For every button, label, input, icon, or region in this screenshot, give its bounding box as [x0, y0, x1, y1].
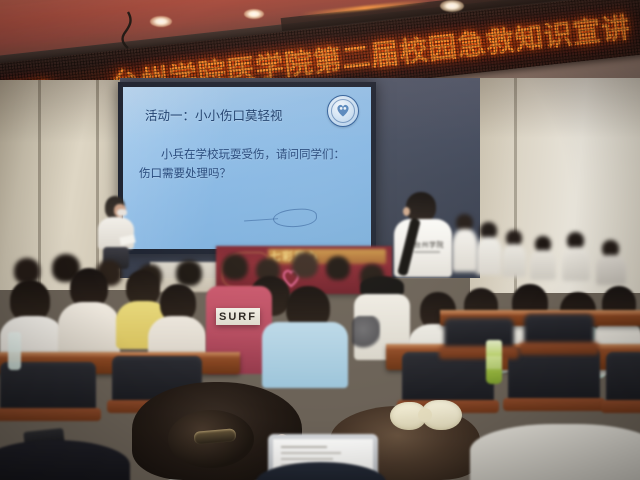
ceiling-downlight [440, 0, 464, 12]
dark-cap [360, 276, 404, 296]
lecture-hall-photo: 台州学院 台州学院医学院第二届校园急救知识宣讲 活动一：小小伤口莫轻视 小兵在学… [0, 0, 640, 480]
slide-body-text: 小兵在学校玩耍受伤，请问同学们：伤口需要处理吗？ [139, 145, 355, 183]
audience-person-lightblue [262, 296, 348, 386]
ceiling-cable [98, 10, 158, 50]
chair-back [524, 314, 594, 348]
presenter-torso [98, 217, 134, 249]
foreground-shoulder-left [0, 440, 130, 480]
medical-college-emblem-icon [327, 95, 359, 127]
foreground-shoulder-far-right [470, 424, 640, 480]
chair-back [444, 318, 514, 352]
presenter-face-mask [117, 209, 127, 216]
volunteer-head [406, 192, 436, 222]
surf-label-text: SURF [219, 311, 257, 323]
water-bottle [8, 332, 21, 370]
chair-back [508, 348, 600, 404]
shirt-floral-print [352, 316, 380, 350]
ceiling-downlight [244, 9, 264, 19]
audience-person [58, 268, 120, 360]
surf-label: SURF [216, 308, 260, 325]
chair-back [606, 352, 640, 406]
slide-title: 活动一：小小伤口莫轻视 [145, 105, 283, 124]
hair-bow-icon [390, 398, 464, 432]
volunteer-ear [403, 207, 410, 216]
green-tea-bottle [486, 340, 502, 384]
volunteer-shirt-text: 台州学院 [414, 240, 446, 250]
projection-screen-frame: 活动一：小小伤口莫轻视 小兵在学校玩耍受伤，请问同学们：伤口需要处理吗？ [118, 82, 376, 254]
projection-screen: 活动一：小小伤口莫轻视 小兵在学校玩耍受伤，请问同学们：伤口需要处理吗？ [123, 87, 371, 249]
